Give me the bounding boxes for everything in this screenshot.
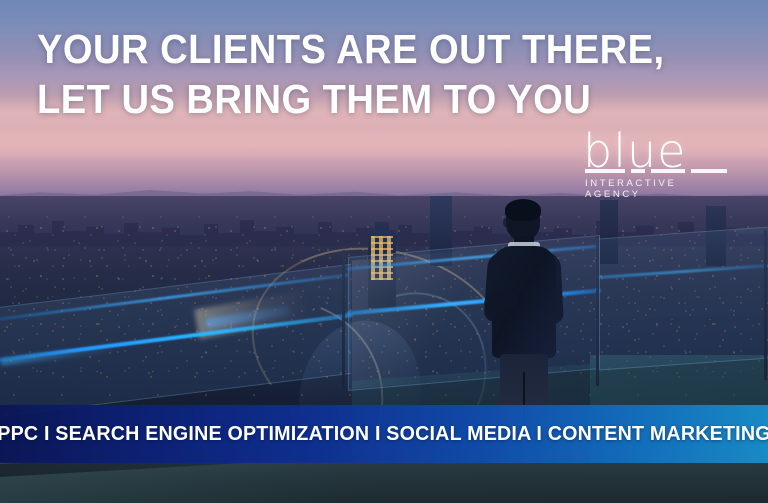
logo-underline-bars <box>585 169 727 174</box>
glass-panel-right <box>596 225 768 370</box>
page-title: YOUR CLIENTS ARE OUT THERE, LET US BRING… <box>37 24 614 124</box>
services-banner-text: PPC I SEARCH ENGINE OPTIMIZATION I SOCIA… <box>15 405 752 463</box>
businessman-silhouette <box>478 196 570 421</box>
glass-post-far-right <box>764 230 767 380</box>
logo-bar-2 <box>631 169 645 173</box>
logo-bar-4 <box>691 169 727 173</box>
logo-tagline: INTERACTIVE AGENCY <box>585 178 733 200</box>
brand-logo[interactable]: blue INTERACTIVE AGENCY <box>583 128 733 190</box>
glass-post-center <box>342 250 345 390</box>
headline-line-1: YOUR CLIENTS ARE OUT THERE, <box>37 24 614 74</box>
glass-post-right <box>596 236 599 386</box>
logo-wordmark: blue <box>583 128 686 174</box>
logo-bar-3 <box>651 169 685 173</box>
logo-bar-1 <box>585 169 625 173</box>
man-hair <box>505 199 541 221</box>
marketing-banner-ad: YOUR CLIENTS ARE OUT THERE, LET US BRING… <box>0 0 768 503</box>
headline-line-2: LET US BRING THEM TO YOU <box>37 74 614 124</box>
